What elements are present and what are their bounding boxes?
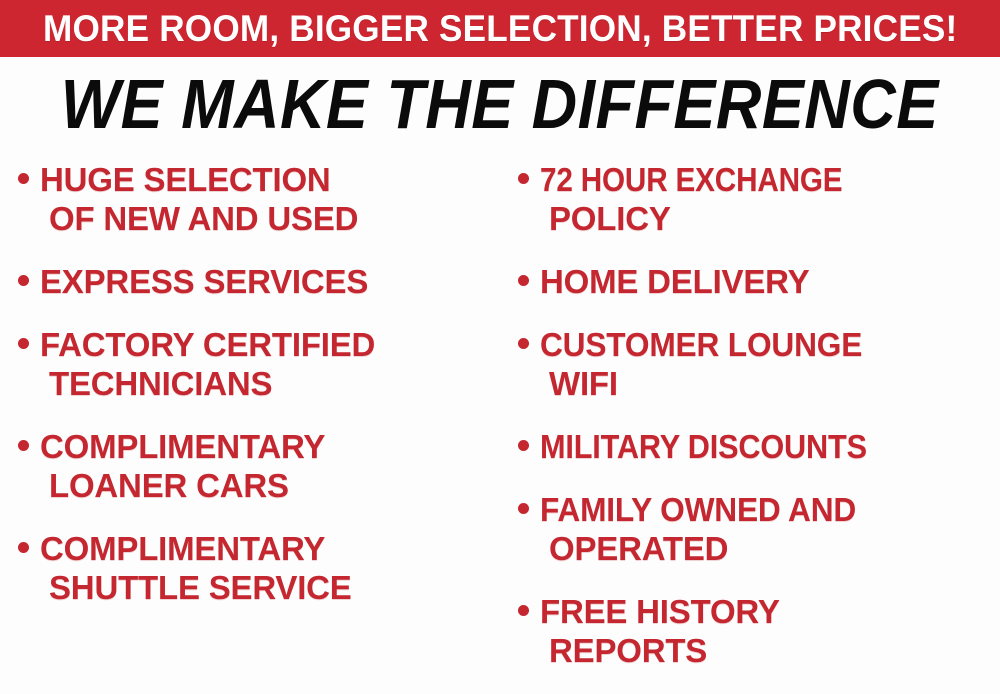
list-item: EXPRESS SERVICES [18, 262, 496, 301]
list-item-line-2: OF NEW AND USED [40, 199, 496, 238]
list-item-line-1: FACTORY CERTIFIED [40, 325, 496, 364]
list-item: CUSTOMER LOUNGE WIFI [518, 325, 998, 403]
headline-container: WE MAKE THE DIFFERENCE [0, 62, 1000, 146]
benefits-column-left: HUGE SELECTION OF NEW AND USED EXPRESS S… [0, 160, 500, 631]
list-item-line-1: CUSTOMER LOUNGE [540, 325, 998, 364]
list-item-text: COMPLIMENTARY LOANER CARS [40, 427, 496, 505]
list-item: FREE HISTORY REPORTS [518, 592, 998, 670]
bullet-dot-icon [18, 338, 29, 349]
list-item: MILITARY DISCOUNTS [518, 427, 998, 466]
list-item: 72 HOUR EXCHANGE POLICY [518, 160, 998, 238]
list-item: FAMILY OWNED AND OPERATED [518, 490, 998, 568]
top-banner: MORE ROOM, BIGGER SELECTION, BETTER PRIC… [0, 0, 1000, 57]
bullet-dot-icon [18, 542, 29, 553]
list-item-text: HUGE SELECTION OF NEW AND USED [40, 160, 496, 238]
page-title: WE MAKE THE DIFFERENCE [61, 68, 939, 140]
list-item-line-1: FREE HISTORY [540, 592, 998, 631]
list-item-line-1: HUGE SELECTION [40, 160, 496, 199]
list-item-line-1: EXPRESS SERVICES [40, 262, 496, 301]
list-item-text: 72 HOUR EXCHANGE POLICY [540, 160, 998, 238]
bullet-dot-icon [18, 173, 29, 184]
list-item-text: FAMILY OWNED AND OPERATED [540, 490, 998, 568]
list-item-line-2: TECHNICIANS [40, 364, 496, 403]
list-item-line-2: OPERATED [540, 529, 998, 568]
list-item-text: HOME DELIVERY [540, 262, 998, 301]
list-item-line-2: POLICY [540, 199, 998, 238]
bullet-dot-icon [18, 275, 29, 286]
list-item-text: FACTORY CERTIFIED TECHNICIANS [40, 325, 496, 403]
list-item-line-2: LOANER CARS [40, 466, 496, 505]
banner-headline-text: MORE ROOM, BIGGER SELECTION, BETTER PRIC… [43, 10, 957, 48]
promo-poster: MORE ROOM, BIGGER SELECTION, BETTER PRIC… [0, 0, 1000, 694]
list-item-line-2: WIFI [540, 364, 998, 403]
list-item-text: COMPLIMENTARY SHUTTLE SERVICE [40, 529, 496, 607]
bullet-dot-icon [518, 173, 529, 184]
list-item-text: CUSTOMER LOUNGE WIFI [540, 325, 998, 403]
list-item-text: EXPRESS SERVICES [40, 262, 496, 301]
bullet-dot-icon [18, 440, 29, 451]
list-item-text: FREE HISTORY REPORTS [540, 592, 998, 670]
bullet-dot-icon [518, 275, 529, 286]
list-item-line-1: HOME DELIVERY [540, 262, 998, 301]
list-item-line-1: COMPLIMENTARY [40, 427, 496, 466]
list-item: FACTORY CERTIFIED TECHNICIANS [18, 325, 496, 403]
benefits-columns: HUGE SELECTION OF NEW AND USED EXPRESS S… [0, 160, 1000, 694]
list-item: HOME DELIVERY [518, 262, 998, 301]
bullet-dot-icon [518, 440, 529, 451]
benefits-column-right: 72 HOUR EXCHANGE POLICY HOME DELIVERY CU… [500, 160, 1000, 694]
list-item: COMPLIMENTARY SHUTTLE SERVICE [18, 529, 496, 607]
list-item-line-2: REPORTS [540, 631, 998, 670]
bullet-dot-icon [518, 605, 529, 616]
list-item-line-1: FAMILY OWNED AND [540, 490, 998, 529]
list-item-line-1: 72 HOUR EXCHANGE [540, 160, 998, 199]
list-item-line-2: SHUTTLE SERVICE [40, 568, 496, 607]
bullet-dot-icon [518, 503, 529, 514]
list-item-line-1: COMPLIMENTARY [40, 529, 496, 568]
list-item-text: MILITARY DISCOUNTS [540, 427, 998, 466]
list-item-line-1: MILITARY DISCOUNTS [540, 427, 998, 466]
list-item: HUGE SELECTION OF NEW AND USED [18, 160, 496, 238]
list-item: COMPLIMENTARY LOANER CARS [18, 427, 496, 505]
bullet-dot-icon [518, 338, 529, 349]
